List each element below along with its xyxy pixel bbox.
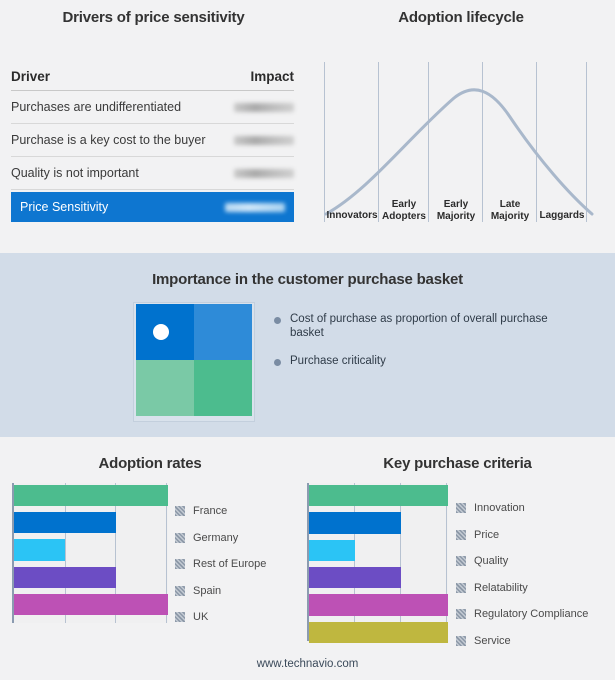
matrix-quadrant-bottom-right[interactable] bbox=[194, 360, 252, 416]
stage-line-1: Innovators bbox=[326, 210, 377, 221]
impact-value-redacted: Medium bbox=[234, 136, 294, 145]
impact-value-redacted: Medium bbox=[225, 203, 285, 212]
bar[interactable] bbox=[309, 594, 448, 615]
bar[interactable] bbox=[309, 485, 448, 506]
stage-line-2: Majority bbox=[491, 211, 529, 222]
footer-url: www.technavio.com bbox=[0, 658, 615, 670]
adoption-curve bbox=[324, 62, 599, 222]
bar-row bbox=[14, 594, 168, 619]
stage-line-1: Late bbox=[500, 199, 521, 210]
stage-line-2: Adopters bbox=[382, 211, 426, 222]
table-row[interactable]: Purchase is a key cost to the buyer Medi… bbox=[11, 124, 294, 157]
table-row[interactable]: Purchases are undifferentiated Medium bbox=[11, 91, 294, 124]
stage-line-1: Early bbox=[444, 199, 468, 210]
legend-swatch-icon bbox=[456, 530, 466, 540]
top-section: Drivers of price sensitivity Driver Impa… bbox=[0, 0, 615, 253]
legend-label: Service bbox=[474, 635, 511, 647]
bar[interactable] bbox=[14, 594, 168, 615]
bar-row bbox=[309, 512, 448, 537]
bar-row bbox=[14, 512, 168, 537]
legend-swatch-icon bbox=[175, 559, 185, 569]
legend-swatch-icon bbox=[175, 586, 185, 596]
table-header-row: Driver Impact bbox=[11, 62, 294, 91]
matrix-quadrant-bottom-left[interactable] bbox=[136, 360, 194, 416]
legend-swatch-icon bbox=[456, 556, 466, 566]
column-header-impact: Impact bbox=[250, 69, 294, 84]
lifecycle-stage-label-laggards: Laggards bbox=[537, 210, 587, 222]
bar-group bbox=[14, 483, 168, 623]
adoption-lifecycle-chart: Innovators Early Adopters Early Majority… bbox=[324, 62, 599, 234]
bar-row bbox=[309, 485, 448, 510]
legend-item[interactable]: Spain bbox=[175, 578, 295, 605]
legend-item[interactable]: UK bbox=[175, 604, 295, 631]
adoption-rates-title: Adoption rates bbox=[0, 455, 300, 472]
bar-row bbox=[309, 540, 448, 565]
legend-item[interactable]: Germany bbox=[175, 525, 295, 552]
bullet-icon bbox=[274, 317, 281, 324]
adoption-rates-legend: FranceGermanyRest of EuropeSpainUK bbox=[175, 498, 295, 631]
legend-label: Cost of purchase as proportion of overal… bbox=[290, 312, 574, 340]
legend-item[interactable]: Price bbox=[456, 522, 611, 549]
column-header-driver: Driver bbox=[11, 69, 50, 84]
legend-item: Cost of purchase as proportion of overal… bbox=[274, 312, 574, 340]
legend-swatch-icon bbox=[175, 533, 185, 543]
legend-label: Regulatory Compliance bbox=[474, 608, 588, 620]
basket-panel-title: Importance in the customer purchase bask… bbox=[0, 271, 615, 288]
bar[interactable] bbox=[309, 512, 401, 533]
driver-label: Purchase is a key cost to the buyer bbox=[11, 133, 206, 147]
stage-line-1: Laggards bbox=[539, 210, 584, 221]
key-purchase-criteria-chart bbox=[307, 483, 448, 641]
legend-label: UK bbox=[193, 611, 208, 623]
legend-item[interactable]: Rest of Europe bbox=[175, 551, 295, 578]
bar[interactable] bbox=[14, 567, 116, 588]
legend-label: Rest of Europe bbox=[193, 558, 266, 570]
lifecycle-stage-label-early-majority: Early Majority bbox=[431, 199, 481, 222]
legend-label: Purchase criticality bbox=[290, 354, 574, 368]
legend-label: Germany bbox=[193, 532, 238, 544]
stage-line-2: Majority bbox=[437, 211, 475, 222]
legend-item[interactable]: Regulatory Compliance bbox=[456, 601, 611, 628]
matrix-quadrant-top-right[interactable] bbox=[194, 304, 252, 360]
table-row-highlighted-price-sensitivity[interactable]: Price Sensitivity Medium bbox=[11, 192, 294, 222]
legend-label: Relatability bbox=[474, 582, 528, 594]
bar-group bbox=[309, 483, 448, 641]
legend-swatch-icon bbox=[175, 506, 185, 516]
bar-row bbox=[309, 622, 448, 647]
drivers-panel-title: Drivers of price sensitivity bbox=[0, 9, 307, 26]
stage-line-1: Early bbox=[392, 199, 416, 210]
impact-value-redacted: Medium bbox=[234, 103, 294, 112]
bar[interactable] bbox=[309, 567, 401, 588]
adoption-rates-chart bbox=[12, 483, 168, 623]
bullet-icon bbox=[274, 359, 281, 366]
matrix-quadrant-top-left[interactable] bbox=[136, 304, 194, 360]
bar-row bbox=[14, 539, 168, 564]
legend-swatch-icon bbox=[456, 583, 466, 593]
driver-label: Price Sensitivity bbox=[20, 200, 108, 214]
drivers-of-price-sensitivity-panel: Drivers of price sensitivity Driver Impa… bbox=[0, 0, 307, 253]
legend-label: Innovation bbox=[474, 502, 525, 514]
key-purchase-criteria-legend: InnovationPriceQualityRelatabilityRegula… bbox=[456, 495, 611, 654]
bar[interactable] bbox=[309, 540, 355, 561]
key-purchase-criteria-title: Key purchase criteria bbox=[300, 455, 615, 472]
legend-label: France bbox=[193, 505, 227, 517]
bar-row bbox=[309, 567, 448, 592]
adoption-lifecycle-panel: Adoption lifecycle Innovators Early Adop… bbox=[307, 0, 615, 253]
lifecycle-stage-label-early-adopters: Early Adopters bbox=[379, 199, 429, 222]
legend-item[interactable]: Quality bbox=[456, 548, 611, 575]
bar-row bbox=[14, 567, 168, 592]
driver-label: Purchases are undifferentiated bbox=[11, 100, 181, 114]
legend-item[interactable]: Service bbox=[456, 628, 611, 655]
legend-label: Price bbox=[474, 529, 499, 541]
lifecycle-panel-title: Adoption lifecycle bbox=[307, 9, 615, 26]
legend-swatch-icon bbox=[175, 612, 185, 622]
legend-label: Spain bbox=[193, 585, 221, 597]
bar[interactable] bbox=[14, 485, 168, 506]
drivers-table: Driver Impact Purchases are undifferenti… bbox=[11, 62, 294, 222]
legend-item[interactable]: France bbox=[175, 498, 295, 525]
matrix-marker-dot bbox=[153, 324, 169, 340]
bar-row bbox=[309, 594, 448, 619]
table-row[interactable]: Quality is not important Medium bbox=[11, 157, 294, 190]
bar[interactable] bbox=[14, 539, 65, 560]
basket-legend: Cost of purchase as proportion of overal… bbox=[274, 312, 574, 382]
legend-item[interactable]: Relatability bbox=[456, 575, 611, 602]
bar-row bbox=[14, 485, 168, 510]
bar[interactable] bbox=[14, 512, 116, 533]
legend-swatch-icon bbox=[456, 609, 466, 619]
legend-swatch-icon bbox=[456, 503, 466, 513]
legend-label: Quality bbox=[474, 555, 508, 567]
impact-value-redacted: Medium bbox=[234, 169, 294, 178]
bar[interactable] bbox=[309, 622, 448, 643]
legend-item: Purchase criticality bbox=[274, 354, 574, 368]
lifecycle-stage-label-innovators: Innovators bbox=[322, 210, 382, 222]
legend-item[interactable]: Innovation bbox=[456, 495, 611, 522]
legend-swatch-icon bbox=[456, 636, 466, 646]
driver-label: Quality is not important bbox=[11, 166, 139, 180]
lifecycle-stage-label-late-majority: Late Majority bbox=[485, 199, 535, 222]
purchase-basket-matrix bbox=[136, 304, 252, 416]
